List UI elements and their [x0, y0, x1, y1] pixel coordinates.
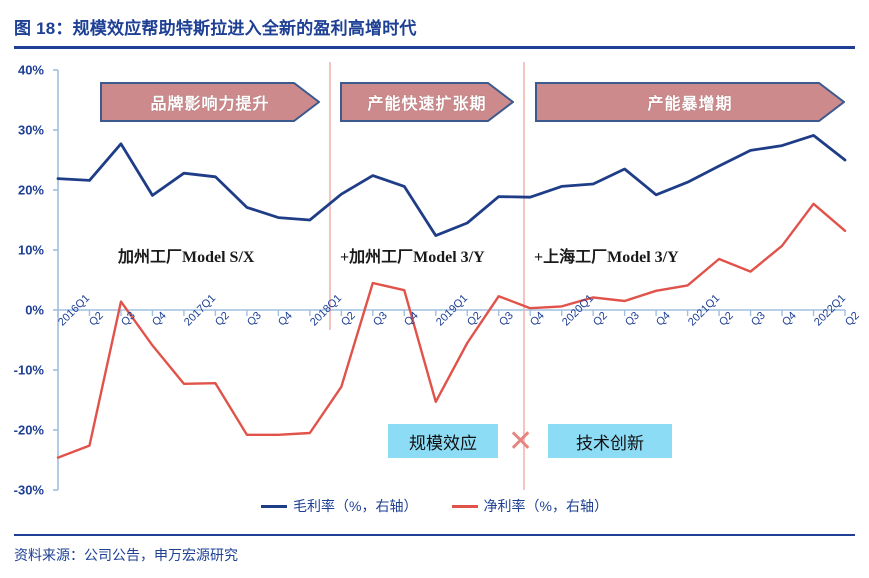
callout-tech-innovation: 技术创新	[548, 424, 672, 458]
y-axis-tick-label: -20%	[0, 423, 44, 438]
phase-banner: 品牌影响力提升	[100, 82, 320, 122]
phase-banner: 产能快速扩张期	[340, 82, 514, 122]
phase-banner: 产能暴增期	[535, 82, 845, 122]
chart-figure: 图 18：规模效应帮助特斯拉进入全新的盈利高增时代 40%30%20%10%0%…	[0, 0, 869, 578]
legend-label: 净利率（%，右轴）	[484, 496, 608, 516]
y-axis-tick-label: 0%	[0, 303, 44, 318]
y-axis-tick-label: 10%	[0, 243, 44, 258]
legend-item: 毛利率（%，右轴）	[261, 496, 417, 516]
plot-area: 40%30%20%10%0%-10%-20%-30%2016Q1Q2Q3Q420…	[0, 0, 869, 578]
phase-note: +上海工厂Model 3/Y	[534, 243, 679, 267]
phase-note: 加州工厂Model S/X	[118, 243, 254, 267]
y-axis-tick-label: 40%	[0, 63, 44, 78]
series-line	[58, 204, 845, 458]
phase-note: +加州工厂Model 3/Y	[340, 243, 485, 267]
legend-label: 毛利率（%，右轴）	[293, 496, 417, 516]
phase-banner-label: 品牌影响力提升	[100, 82, 346, 122]
footer-divider	[14, 534, 855, 536]
legend-swatch	[452, 505, 478, 508]
phase-banner-label: 产能快速扩张期	[340, 82, 540, 122]
y-axis-tick-label: 20%	[0, 183, 44, 198]
phase-banner-label: 产能暴增期	[535, 82, 869, 122]
callout-scale-effect: 规模效应	[388, 424, 498, 458]
legend-item: 净利率（%，右轴）	[452, 496, 608, 516]
multiply-icon: ✕	[508, 427, 533, 457]
chart-legend: 毛利率（%，右轴）净利率（%，右轴）	[0, 496, 869, 516]
source-note: 资料来源：公司公告，申万宏源研究	[14, 545, 238, 565]
y-axis-tick-label: -10%	[0, 363, 44, 378]
series-line	[58, 135, 845, 235]
y-axis-tick-label: 30%	[0, 123, 44, 138]
legend-swatch	[261, 505, 287, 508]
